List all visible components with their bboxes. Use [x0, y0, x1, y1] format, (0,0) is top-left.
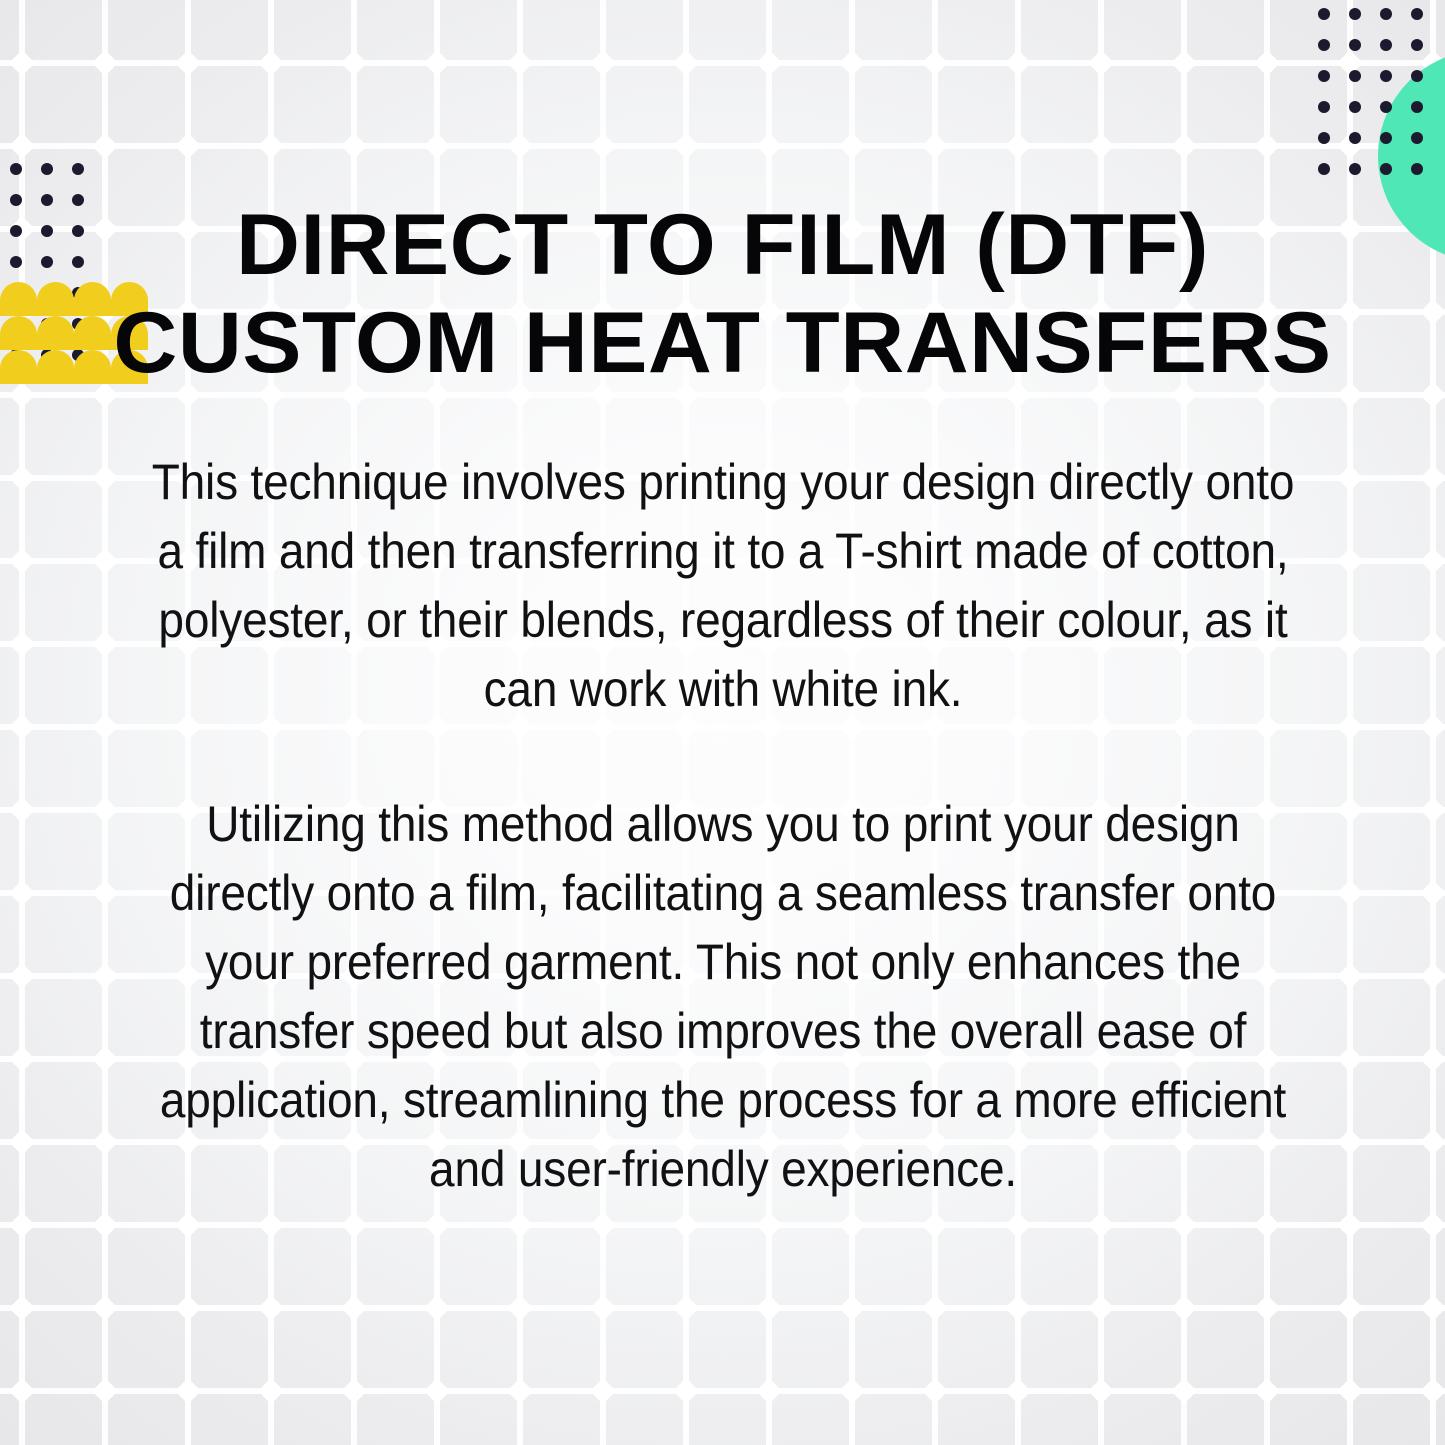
page-title-line-1: DIRECT TO FILM (DTF): [76, 196, 1369, 294]
poster-canvas: DIRECT TO FILM (DTF) CUSTOM HEAT TRANSFE…: [0, 0, 1445, 1445]
body-copy: This technique involves printing your de…: [88, 448, 1358, 1204]
paragraph-2: Utilizing this method allows you to prin…: [139, 790, 1307, 1204]
paragraph-1: This technique involves printing your de…: [139, 448, 1307, 724]
page-title: DIRECT TO FILM (DTF) CUSTOM HEAT TRANSFE…: [76, 196, 1369, 392]
poster-content: DIRECT TO FILM (DTF) CUSTOM HEAT TRANSFE…: [0, 0, 1445, 1445]
page-title-line-2: CUSTOM HEAT TRANSFERS: [76, 294, 1369, 392]
